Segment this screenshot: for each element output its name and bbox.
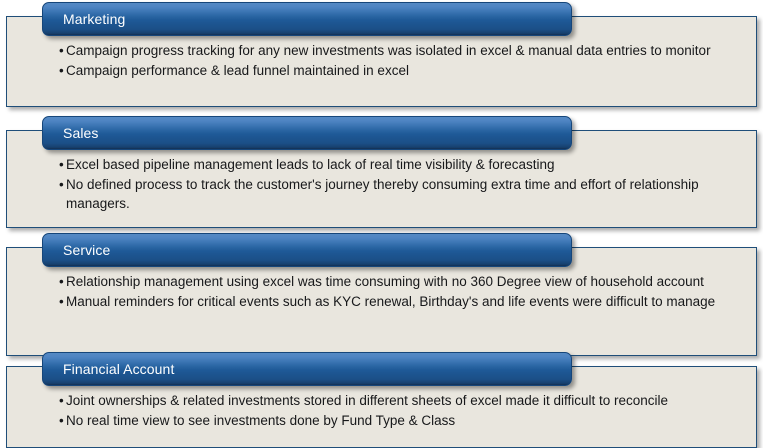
section-title: Sales xyxy=(43,117,571,149)
bullet-dot-icon: • xyxy=(59,411,64,430)
list-item: • No defined process to track the custom… xyxy=(0,175,763,213)
bullet-dot-icon: • xyxy=(59,272,64,291)
section-header-tab[interactable]: Marketing xyxy=(42,2,572,36)
section-bullet-list: • Joint ownerships & related investments… xyxy=(0,391,763,431)
bullet-dot-icon: • xyxy=(59,175,64,194)
list-item: • Campaign performance & lead funnel mai… xyxy=(0,61,763,80)
list-item: • Manual reminders for critical events s… xyxy=(0,292,763,311)
section-header-tab[interactable]: Sales xyxy=(42,116,572,150)
section-bullet-list: • Campaign progress tracking for any new… xyxy=(0,41,763,81)
bullet-dot-icon: • xyxy=(59,292,64,311)
list-item: • Campaign progress tracking for any new… xyxy=(0,41,763,60)
section-header-tab[interactable]: Service xyxy=(42,233,572,267)
section-title: Financial Account xyxy=(43,353,571,385)
challenges-diagram: Marketing • Campaign progress tracking f… xyxy=(0,0,763,447)
bullet-dot-icon: • xyxy=(59,41,64,60)
section-bullet-list: • Excel based pipeline management leads … xyxy=(0,155,763,214)
list-item-text: Manual reminders for critical events suc… xyxy=(66,294,715,309)
list-item-text: Campaign performance & lead funnel maint… xyxy=(66,63,409,78)
list-item-text: No defined process to track the customer… xyxy=(66,177,699,211)
list-item-text: No real time view to see investments don… xyxy=(66,413,455,428)
list-item-text: Relationship management using excel was … xyxy=(66,274,704,289)
list-item-text: Excel based pipeline management leads to… xyxy=(66,157,555,172)
section-title: Marketing xyxy=(43,3,571,35)
section-bullet-list: • Relationship management using excel wa… xyxy=(0,272,763,312)
bullet-dot-icon: • xyxy=(59,155,64,174)
list-item: • Joint ownerships & related investments… xyxy=(0,391,763,410)
bullet-dot-icon: • xyxy=(59,391,64,410)
list-item: • Excel based pipeline management leads … xyxy=(0,155,763,174)
bullet-dot-icon: • xyxy=(59,61,64,80)
section-title: Service xyxy=(43,234,571,266)
list-item-text: Joint ownerships & related investments s… xyxy=(66,393,668,408)
section-header-tab[interactable]: Financial Account xyxy=(42,352,572,386)
list-item-text: Campaign progress tracking for any new i… xyxy=(66,43,711,58)
list-item: • No real time view to see investments d… xyxy=(0,411,763,430)
list-item: • Relationship management using excel wa… xyxy=(0,272,763,291)
